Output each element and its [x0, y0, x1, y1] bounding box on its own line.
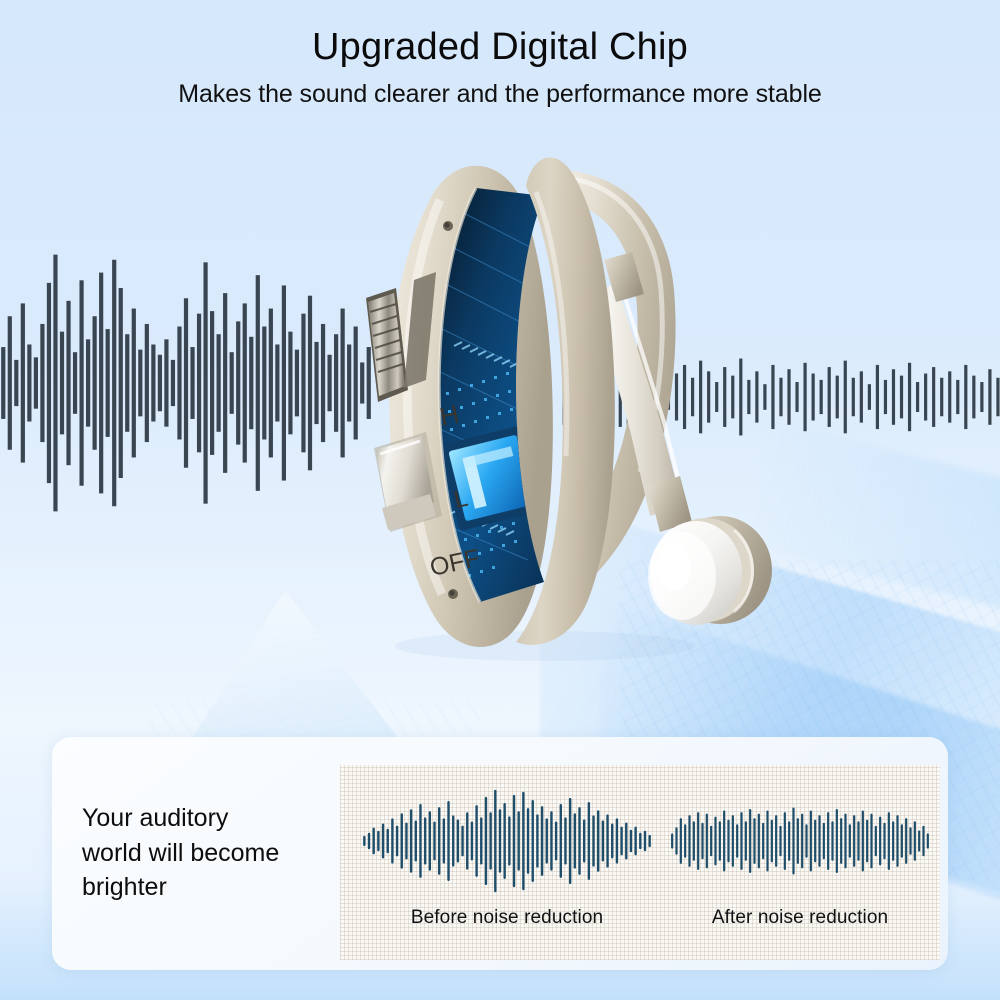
waveform-bar: [857, 821, 859, 861]
waveform-bar: [190, 347, 194, 419]
waveform-bar: [684, 824, 686, 857]
waveform-bar: [401, 813, 403, 868]
waveform-bar: [47, 283, 51, 483]
waveform-bar: [184, 298, 188, 467]
waveform-bar: [879, 817, 881, 866]
waveform-bar: [592, 815, 594, 866]
waveform-bar: [391, 818, 393, 863]
waveform-bar: [701, 823, 703, 860]
waveform-bar: [932, 367, 935, 427]
waveform-bar: [710, 826, 712, 856]
waveform-bar: [828, 367, 831, 427]
waveform-bar: [706, 814, 708, 869]
waveform-bar: [73, 352, 77, 414]
waveform-bar: [740, 812, 742, 870]
waveform-bar: [625, 823, 627, 860]
waveform-bar: [852, 378, 855, 416]
waveform-bar: [145, 324, 149, 442]
waveform-bar: [762, 823, 764, 860]
waveform-bar: [948, 371, 951, 422]
waveform-bar: [363, 836, 365, 846]
waveform-bar: [508, 816, 510, 865]
waveform-bar: [471, 822, 473, 861]
waveform-bar: [288, 332, 292, 435]
waveform-bar: [171, 360, 175, 406]
waveform-bar: [513, 795, 515, 887]
waveform-bar: [884, 380, 887, 414]
waveform-bar: [21, 303, 25, 462]
page-subtitle: Makes the sound clearer and the performa…: [0, 80, 1000, 109]
waveform-bar: [675, 827, 677, 854]
card-headline-line-2: world will become: [82, 836, 332, 871]
waveform-bar: [93, 316, 97, 450]
waveform-bar: [429, 811, 431, 871]
waveform-bar: [275, 344, 279, 421]
after-column: After noise reduction: [670, 765, 930, 960]
waveform-bar: [727, 820, 729, 863]
waveform-bar: [648, 835, 650, 847]
waveform-bar: [314, 342, 318, 424]
waveform-bar: [480, 817, 482, 864]
waveform-bar: [788, 821, 790, 861]
waveform-bar: [892, 369, 895, 425]
waveform-bar: [883, 823, 885, 860]
waveform-bar: [410, 809, 412, 873]
waveform-bar: [396, 826, 398, 857]
waveform-bar: [438, 807, 440, 875]
waveform-bar: [461, 826, 463, 857]
header: Upgraded Digital Chip Makes the sound cl…: [0, 26, 1000, 109]
waveform-bar: [922, 826, 924, 856]
waveform-bar: [223, 293, 227, 473]
waveform-bar: [766, 811, 768, 872]
page-title: Upgraded Digital Chip: [0, 26, 1000, 69]
waveform-bar: [996, 378, 999, 416]
waveform-bar: [940, 378, 943, 416]
waveform-bar: [810, 811, 812, 872]
waveform-bar: [924, 373, 927, 420]
waveform-bar: [892, 821, 894, 861]
waveform-bar: [457, 819, 459, 862]
waveform-bar: [151, 344, 155, 421]
waveform-bar: [217, 334, 221, 432]
waveform-bar: [876, 365, 879, 429]
waveform-bar: [230, 352, 234, 414]
waveform-bar: [256, 275, 260, 491]
waveform-bar: [243, 303, 247, 462]
waveform-bar: [753, 818, 755, 864]
waveform-bar: [875, 826, 877, 856]
waveform-bar: [536, 814, 538, 867]
waveform-bar: [447, 801, 449, 881]
before-waveform: [362, 787, 652, 895]
waveform-bar: [125, 334, 129, 432]
waveform-bar: [914, 821, 916, 861]
waveform-bar: [836, 376, 839, 419]
waveform-bar: [1, 347, 5, 419]
after-label: After noise reduction: [670, 907, 930, 929]
waveform-bar: [888, 812, 890, 870]
waveform-bar: [611, 824, 613, 859]
waveform-bar: [368, 833, 370, 849]
waveform-bar: [784, 812, 786, 870]
waveform-bar: [836, 809, 838, 873]
waveform-bar: [574, 813, 576, 868]
waveform-bar: [927, 833, 929, 848]
waveform-bar: [485, 797, 487, 885]
waveform-bar: [719, 821, 721, 861]
waveform-bar: [956, 380, 959, 414]
waveform-bar: [853, 815, 855, 867]
waveform-bar: [620, 827, 622, 856]
waveform-bar: [79, 280, 83, 485]
waveform-bar: [732, 815, 734, 867]
waveform-bar: [870, 814, 872, 869]
waveform-bar: [164, 339, 168, 426]
waveform-bar: [489, 812, 491, 869]
waveform-bar: [86, 339, 90, 426]
waveform-bar: [862, 811, 864, 872]
waveform-bar: [844, 814, 846, 869]
noise-reduction-comparison-panel: Before noise reduction After noise reduc…: [340, 765, 940, 960]
waveform-bar: [66, 301, 70, 465]
waveform-bar: [918, 830, 920, 851]
waveform-bar: [758, 814, 760, 869]
waveform-bar: [583, 819, 585, 862]
waveform-bar: [387, 829, 389, 854]
waveform-bar: [564, 817, 566, 864]
waveform-bar: [868, 384, 871, 410]
waveform-bar: [849, 824, 851, 857]
waveform-bar: [697, 812, 699, 870]
waveform-bar: [644, 831, 646, 852]
waveform-bar: [797, 818, 799, 864]
waveform-bar: [905, 818, 907, 864]
waveform-bar: [900, 376, 903, 419]
waveform-bar: [866, 820, 868, 863]
waveform-bar: [269, 309, 273, 458]
waveform-bar: [443, 818, 445, 863]
waveform-bar: [569, 798, 571, 884]
card-headline-line-1: Your auditory: [82, 801, 332, 836]
waveform-bar: [616, 818, 618, 863]
waveform-bar: [801, 814, 803, 869]
waveform-bar: [779, 826, 781, 856]
waveform-bar: [236, 321, 240, 444]
waveform-bar: [53, 255, 57, 512]
waveform-bar: [745, 821, 747, 861]
waveform-bar: [532, 800, 534, 882]
before-label: Before noise reduction: [362, 907, 652, 929]
waveform-bar: [980, 382, 983, 412]
waveform-bar: [688, 815, 690, 867]
waveform-bar: [197, 314, 201, 453]
waveform-bar: [844, 361, 847, 434]
waveform-bar: [550, 811, 552, 871]
waveform-bar: [988, 369, 991, 425]
waveform-bar: [27, 344, 31, 421]
waveform-bar: [138, 350, 142, 417]
waveform-bar: [8, 316, 12, 450]
waveform-bar: [40, 324, 44, 442]
waveform-bar: [634, 827, 636, 856]
waveform-bar: [119, 288, 123, 478]
waveform-bar: [823, 823, 825, 860]
waveform-bar: [546, 818, 548, 863]
waveform-bar: [606, 814, 608, 867]
waveform-bar: [840, 818, 842, 864]
waveform-bar: [60, 332, 64, 435]
waveform-bar: [792, 808, 794, 875]
waveform-bar: [736, 824, 738, 857]
waveform-bar: [860, 371, 863, 422]
waveform-bar: [555, 822, 557, 861]
waveform-bar: [693, 821, 695, 861]
waveform-bar: [419, 804, 421, 878]
waveform-bar: [896, 815, 898, 867]
waveform-bar: [433, 822, 435, 861]
waveform-bar: [503, 803, 505, 879]
waveform-bar: [295, 350, 299, 417]
waveform-bar: [106, 329, 110, 437]
hero-waveform-left: [0, 252, 372, 514]
waveform-bar: [916, 382, 919, 412]
waveform-bar: [812, 373, 815, 420]
waveform-bar: [308, 296, 312, 471]
waveform-bar: [405, 823, 407, 860]
waveform-bar: [578, 807, 580, 875]
waveform-bar: [771, 820, 773, 863]
waveform-bar: [588, 802, 590, 880]
card-headline: Your auditory world will become brighter: [82, 801, 332, 905]
waveform-bar: [452, 815, 454, 866]
waveform-bar: [377, 831, 379, 852]
waveform-bar: [901, 824, 903, 857]
waveform-bar: [203, 262, 207, 503]
waveform-bar: [466, 812, 468, 869]
waveform-bar: [517, 811, 519, 871]
waveform-bar: [132, 309, 136, 458]
waveform-bar: [475, 805, 477, 877]
waveform-bar: [820, 380, 823, 414]
before-column: Before noise reduction: [362, 765, 652, 960]
waveform-bar: [321, 324, 325, 442]
waveform-bar: [805, 824, 807, 857]
waveform-bar: [602, 820, 604, 861]
waveform-bar: [909, 827, 911, 854]
waveform-bar: [494, 790, 496, 893]
waveform-bar: [382, 824, 384, 859]
waveform-bar: [775, 815, 777, 867]
card-headline-line-3: brighter: [82, 870, 332, 905]
waveform-bar: [372, 828, 374, 855]
waveform-bar: [630, 830, 632, 853]
waveform-bar: [908, 363, 911, 431]
waveform-bar: [282, 285, 286, 480]
waveform-bar: [639, 833, 641, 849]
waveform-bar: [680, 818, 682, 864]
waveform-bar: [541, 806, 543, 876]
waveform-bar: [34, 357, 38, 408]
waveform-bar: [972, 376, 975, 419]
waveform-bar: [262, 327, 266, 440]
waveform-bar: [158, 355, 162, 411]
waveform-bar: [560, 804, 562, 878]
waveform-bar: [749, 809, 751, 873]
waveform-bar: [818, 815, 820, 867]
waveform-bar: [803, 363, 806, 431]
waveform-bar: [964, 365, 967, 429]
waveform-bar: [671, 833, 673, 848]
hearing-aid-device-image: H L OFF: [330, 130, 800, 670]
waveform-bar: [415, 820, 417, 861]
waveform-bar: [424, 817, 426, 864]
waveform-bar: [831, 821, 833, 861]
product-feature-poster: Upgraded Digital Chip Makes the sound cl…: [0, 0, 1000, 1000]
waveform-bar: [112, 260, 116, 506]
after-waveform: [670, 787, 930, 895]
waveform-bar: [301, 314, 305, 453]
waveform-bar: [827, 812, 829, 870]
waveform-bar: [499, 809, 501, 873]
waveform-bar: [210, 311, 214, 455]
waveform-bar: [527, 808, 529, 874]
waveform-bar: [99, 273, 103, 494]
noise-reduction-card: Your auditory world will become brighter…: [52, 737, 948, 970]
waveform-bar: [177, 327, 181, 440]
waveform-bar: [814, 820, 816, 863]
waveform-bar: [249, 337, 253, 429]
waveform-bar: [522, 792, 524, 891]
waveform-bar: [714, 817, 716, 866]
waveform-bar: [14, 360, 18, 406]
waveform-bar: [597, 810, 599, 872]
waveform-bar: [723, 811, 725, 872]
